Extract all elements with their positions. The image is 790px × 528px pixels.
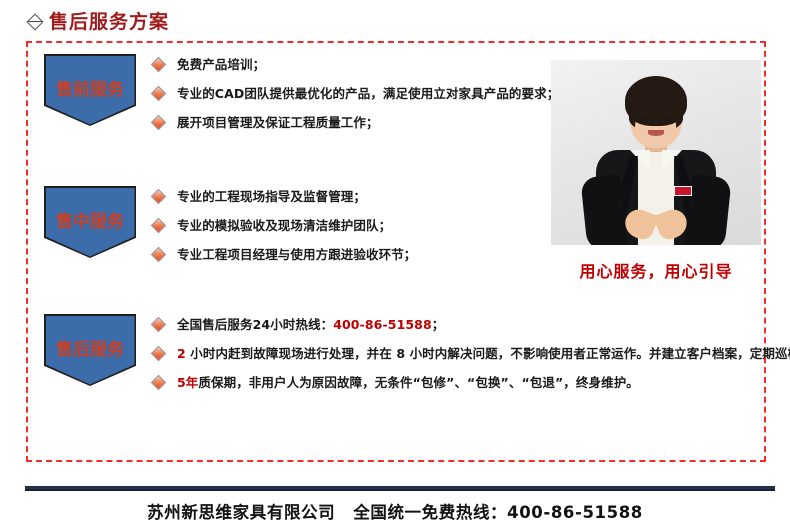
service-section-aftersale: 售后服务 全国售后服务24小时热线：400-86-51588； 2 小时内赶到故… [44, 314, 790, 392]
diamond-bullet-icon [152, 190, 167, 205]
photo-caption: 用心服务，用心引导 [551, 258, 761, 282]
diamond-bullet-icon [152, 347, 167, 362]
diamond-outline-icon [28, 15, 43, 30]
footer-text: 苏州新思维家具有限公司全国统一免费热线：400-86-51588 [0, 499, 790, 523]
list-item-text-post: 小时内赶到故障现场进行处理，并在 8 小时内解决问题，不影响使用者正常运作。并建… [186, 346, 790, 361]
list-item-text: 专业的CAD团队提供最优化的产品，满足使用立对家具产品的要求； [177, 86, 559, 101]
response-hours: 2 [177, 346, 186, 361]
section-banner-aftersale: 售后服务 [44, 314, 136, 386]
diamond-bullet-icon [152, 376, 167, 391]
section-banner-label: 售前服务 [44, 75, 136, 100]
list-item-text: 免费产品培训； [177, 57, 265, 72]
list-item-text-pre: 全国售后服务24小时热线： [177, 317, 333, 332]
list-item-text: 2 小时内赶到故障现场进行处理，并在 8 小时内解决问题，不影响使用者正常运作。… [177, 346, 790, 361]
uniform-badge-icon [674, 186, 692, 196]
diamond-bullet-icon [152, 318, 167, 333]
service-staff-photo [551, 60, 761, 245]
footer-divider-bar [25, 486, 775, 491]
warranty-years: 5年 [177, 375, 198, 390]
section-banner-presale: 售前服务 [44, 54, 136, 126]
diamond-bullet-icon [152, 219, 167, 234]
hotline-number: 400-86-51588 [333, 317, 432, 332]
diamond-bullet-icon [152, 87, 167, 102]
bullet-list-aftersale: 全国售后服务24小时热线：400-86-51588； 2 小时内赶到故障现场进行… [152, 314, 790, 392]
service-section-duringsale: 售中服务 专业的工程现场指导及监督管理； 专业的模拟验收及现场清洁维护团队； 专… [44, 186, 416, 264]
diamond-bullet-icon [152, 58, 167, 73]
footer-hotline: 全国统一免费热线：400-86-51588 [353, 503, 643, 522]
section-banner-label: 售后服务 [44, 335, 136, 360]
section-banner-duringsale: 售中服务 [44, 186, 136, 258]
bullet-list-presale: 免费产品培训； 专业的CAD团队提供最优化的产品，满足使用立对家具产品的要求； … [152, 54, 559, 132]
diamond-bullet-icon [152, 116, 167, 131]
photo-block: 用心服务，用心引导 [551, 60, 761, 282]
list-item: 专业的模拟验收及现场清洁维护团队； [152, 218, 416, 235]
section-banner-label: 售中服务 [44, 207, 136, 232]
list-item: 免费产品培训； [152, 57, 559, 74]
service-section-presale: 售前服务 免费产品培训； 专业的CAD团队提供最优化的产品，满足使用立对家具产品… [44, 54, 559, 132]
bullet-list-duringsale: 专业的工程现场指导及监督管理； 专业的模拟验收及现场清洁维护团队； 专业工程项目… [152, 186, 416, 264]
list-item: 5年质保期，非用户人为原因故障，无条件“包修”、“包换”、“包退”，终身维护。 [152, 375, 790, 392]
list-item: 展开项目管理及保证工程质量工作； [152, 115, 559, 132]
list-item-text: 专业的工程现场指导及监督管理； [177, 189, 366, 204]
diamond-bullet-icon [152, 248, 167, 263]
footer-company-name: 苏州新思维家具有限公司 [147, 503, 335, 522]
list-item: 全国售后服务24小时热线：400-86-51588； [152, 317, 790, 334]
page-title-text: 售后服务方案 [49, 13, 169, 32]
list-item-text: 5年质保期，非用户人为原因故障，无条件“包修”、“包换”、“包退”，终身维护。 [177, 375, 639, 390]
list-item: 专业工程项目经理与使用方跟进验收环节； [152, 247, 416, 264]
list-item-text: 专业工程项目经理与使用方跟进验收环节； [177, 247, 416, 262]
list-item-text: 展开项目管理及保证工程质量工作； [177, 115, 379, 130]
list-item-text: 专业的模拟验收及现场清洁维护团队； [177, 218, 391, 233]
list-item-text-post: 质保期，非用户人为原因故障，无条件“包修”、“包换”、“包退”，终身维护。 [198, 375, 639, 390]
list-item: 2 小时内赶到故障现场进行处理，并在 8 小时内解决问题，不影响使用者正常运作。… [152, 346, 790, 363]
list-item-text-post: ； [432, 317, 445, 332]
list-item: 专业的工程现场指导及监督管理； [152, 189, 416, 206]
list-item: 专业的CAD团队提供最优化的产品，满足使用立对家具产品的要求； [152, 86, 559, 103]
page-title: 售后服务方案 [28, 8, 169, 36]
list-item-text: 全国售后服务24小时热线：400-86-51588； [177, 317, 444, 332]
